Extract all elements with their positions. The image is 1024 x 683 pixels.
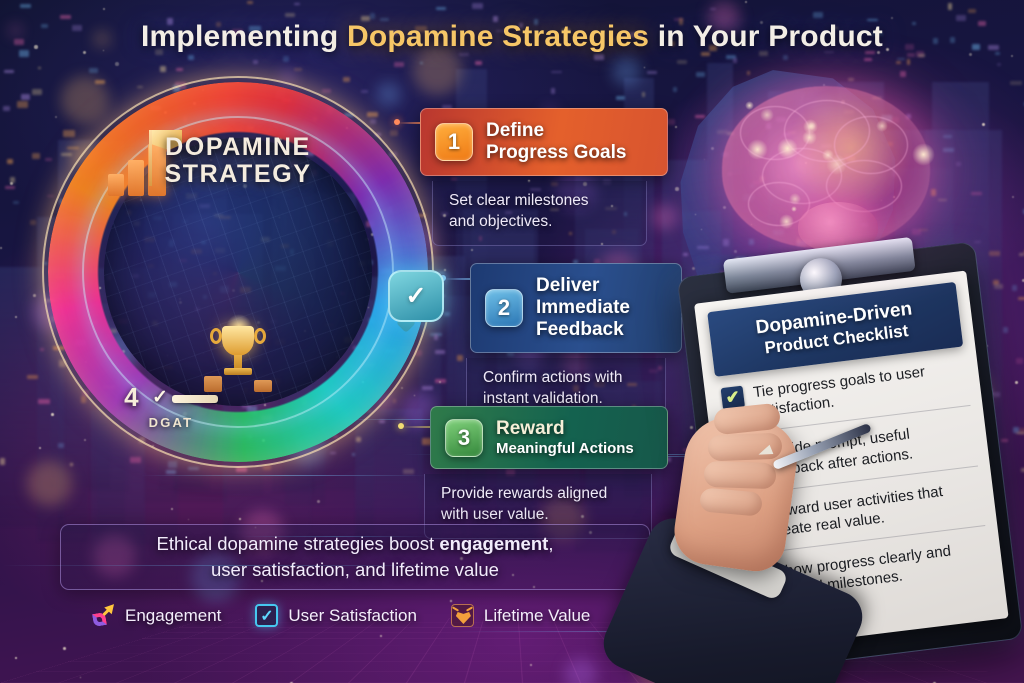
hand-holding-clipboard-icon [658,400,828,683]
window-light [13,201,19,204]
banner-line-1-bold: engagement [439,533,548,554]
light-spark [450,600,452,602]
heart-shape [456,611,471,624]
window-light [60,15,71,19]
heart-shield-icon [451,604,474,627]
step-2-title-line-2: Immediate [536,297,630,319]
window-light [27,375,38,379]
window-light [176,68,183,71]
podium-left [204,376,222,392]
neuron-spark [745,101,754,110]
step-1-header[interactable]: 1 Define Progress Goals [420,108,668,176]
window-light [4,70,14,73]
step-1-body-line-2: and objectives. [449,212,630,233]
page-title: Implementing Dopamine Strategies in Your… [0,20,1024,54]
window-light [3,106,10,111]
window-light [17,101,28,108]
window-light [160,66,166,72]
step-1-title: Define Progress Goals [486,120,626,164]
dopamine-strategy-ring: DOPAMINE STRATEGY 4 ✓ DGAT [48,82,428,462]
step-3-body-line-1: Provide rewards aligned [441,484,635,505]
horizon-line [140,475,429,476]
light-spark [891,17,893,19]
step-1-body: Set clear milestones and objectives. [432,181,647,246]
window-light [551,88,555,94]
neuron-spark [791,206,797,212]
banner-line-1-pre: Ethical dopamine strategies boost [157,533,440,554]
finger-ring [704,461,777,489]
magnet-arrow-icon [92,604,115,627]
window-light [472,3,483,9]
legend-item-user-satisfaction[interactable]: ✓ User Satisfaction [255,604,417,627]
step-card-2[interactable]: 2 Deliver Immediate Feedback Confirm act… [470,263,682,423]
flag-and-bar-chart-icon [102,110,198,196]
bokeh-dot [612,57,641,86]
legend-label-lifetime-value: Lifetime Value [484,606,590,626]
step-2-title-line-3: Feedback [536,319,630,341]
light-spark [33,294,36,297]
step-1-number-badge: 1 [435,123,473,161]
window-light [253,60,258,64]
step-1-title-line-2: Progress Goals [486,142,626,164]
window-light [285,13,295,17]
title-part-2: in Your Product [649,20,883,53]
neuron-spark [747,139,768,160]
window-light [1003,327,1008,333]
window-light [948,3,952,10]
step-2-title: Deliver Immediate Feedback [536,275,630,341]
legend: Engagement ✓ User Satisfaction Lifetime … [92,604,590,627]
flag-pole [149,130,152,186]
light-spark [745,1,747,3]
step-2-title-line-1: Deliver [536,275,630,297]
window-light [457,355,463,361]
window-light [294,68,302,71]
window-light [394,62,404,67]
trophy-cup [222,326,254,356]
step-3-title-line-2: Meaningful Actions [496,440,634,457]
window-light [1016,432,1024,434]
neuron-spark [777,138,798,159]
infographic-canvas: Implementing Dopamine Strategies in Your… [0,0,1024,683]
banner-line-1-post: , [548,533,553,554]
window-light [974,241,981,243]
light-spark [39,447,41,449]
window-light [21,94,30,100]
title-highlight: Dopamine Strategies [347,20,649,53]
window-light [434,334,438,340]
window-light [989,251,1000,256]
light-spark [439,381,441,383]
checkbox-check-icon: ✓ [255,604,278,627]
step-3-title-line-1: Reward [496,418,634,440]
window-light [20,4,31,8]
window-light [968,9,976,13]
window-light [1016,358,1023,364]
window-light [1019,253,1024,256]
window-light [5,186,15,189]
step-3-header[interactable]: 3 Reward Meaningful Actions [430,406,668,469]
step-1-body-line-1: Set clear milestones [449,191,630,212]
summary-banner-text: Ethical dopamine strategies boost engage… [157,531,554,582]
trophy-icon [200,320,276,394]
window-light [444,312,450,316]
window-light [188,55,194,60]
trophy-handle-right [254,328,266,344]
finger-middle [708,433,783,462]
window-light [38,67,41,69]
window-light [89,68,98,73]
light-spark [239,518,241,520]
window-light [166,470,176,474]
bar-medium [128,160,144,196]
step-3-number-badge: 3 [445,419,483,457]
window-light [971,192,982,195]
window-light [247,1,253,4]
summary-banner: Ethical dopamine strategies boost engage… [60,524,650,590]
window-light [813,12,823,18]
banner-line-2: user satisfaction, and lifetime value [211,559,499,580]
step-3-body-line-2: with user value. [441,505,635,526]
window-light [0,458,5,465]
window-light [994,284,1003,289]
neuron-spark [779,214,794,229]
window-light [1010,81,1022,85]
podium-right [254,380,272,392]
neuron-spark [760,108,774,122]
window-light [283,56,289,62]
bokeh-dot [27,461,72,506]
window-light [594,54,604,60]
window-light [1018,297,1024,300]
neuron-spark [808,122,816,130]
speech-bubble-check-icon: ✓ [388,270,444,322]
title-part-1: Implementing [141,20,347,53]
window-light [436,7,446,10]
bubble-check-glyph: ✓ [388,270,444,322]
light-spark [1015,381,1018,384]
legend-label-user-satisfaction: User Satisfaction [288,606,417,626]
light-spark [982,123,985,126]
neuron-spark [802,130,817,145]
trophy-stem [234,355,242,369]
trophy-handle-left [210,328,222,344]
window-light [40,348,44,351]
legend-item-engagement[interactable]: Engagement [92,604,221,627]
step-card-3[interactable]: 3 Reward Meaningful Actions Provide rewa… [430,406,668,539]
light-spark [444,269,446,271]
light-spark [63,647,66,650]
step-card-1[interactable]: 1 Define Progress Goals Set clear milest… [420,108,668,246]
heart-wing-left [452,606,459,611]
neuron-spark [912,143,935,166]
window-light [403,469,414,474]
step-2-number-badge: 2 [485,289,523,327]
window-light [32,153,40,159]
window-light [435,350,445,354]
step-1-title-line-1: Define [486,120,626,142]
window-light [294,3,300,5]
window-light [30,220,36,225]
neuron-spark [876,120,888,132]
step-2-body-line-1: Confirm actions with [483,368,649,389]
heart-wing-right [466,606,473,611]
window-light [1012,285,1017,291]
window-light [616,96,625,100]
neuron-spark [789,193,801,205]
light-spark [115,62,119,66]
bokeh-dot [564,658,597,683]
window-light [642,92,645,97]
window-light [475,61,482,65]
window-light [70,463,73,466]
light-spark [317,500,320,503]
bar-small [108,174,124,196]
window-light [551,71,562,73]
legend-label-engagement: Engagement [125,606,221,626]
window-light [188,467,199,470]
trophy-base [224,368,252,375]
window-light [997,63,1001,66]
window-light [1001,439,1008,442]
step-3-title: Reward Meaningful Actions [496,418,634,457]
window-light [32,89,42,95]
window-light [370,13,375,19]
step-2-header[interactable]: 2 Deliver Immediate Feedback [470,263,682,353]
window-light [168,461,177,468]
window-light [7,159,13,164]
legend-item-lifetime-value[interactable]: Lifetime Value [451,604,590,627]
neuron-spark [826,154,847,175]
